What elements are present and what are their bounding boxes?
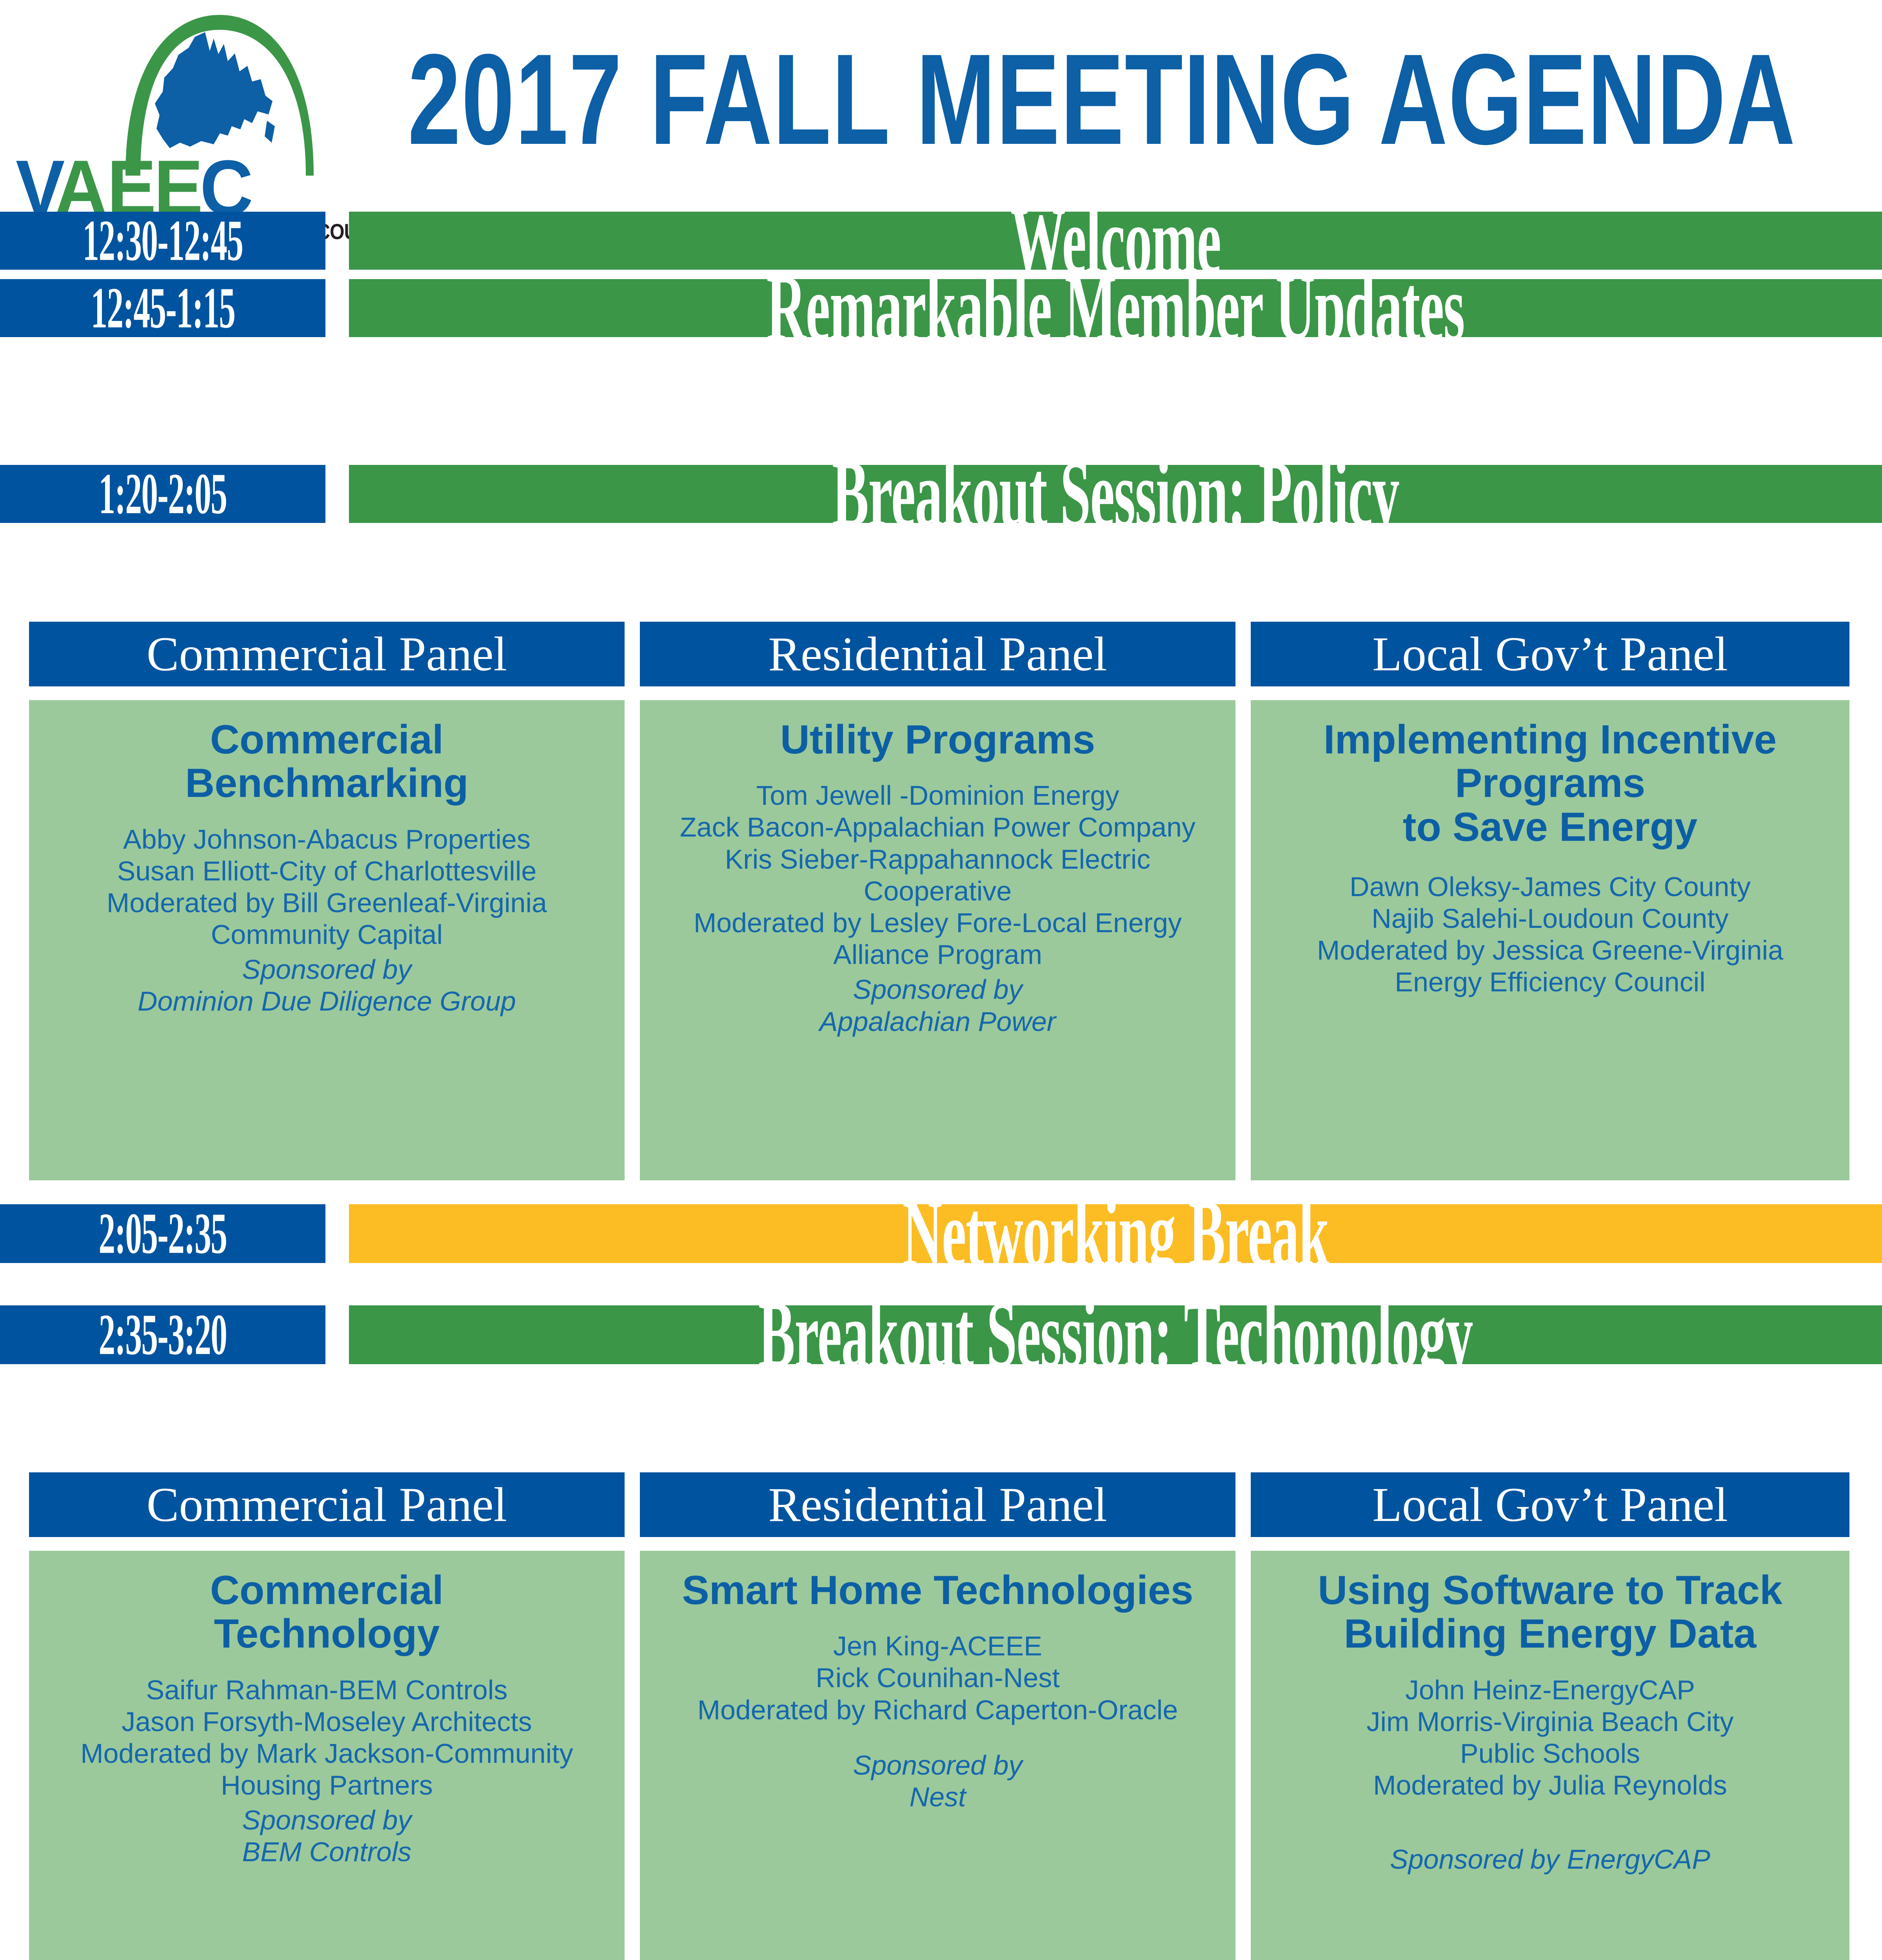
panel-body: Utility Programs Tom Jewell -Dominion En… bbox=[640, 700, 1235, 1180]
panel-speakers: Tom Jewell -Dominion Energy Zack Bacon-A… bbox=[652, 780, 1224, 971]
agenda-row-member-updates: 12:45-1:15 Remarkable Member Updates bbox=[0, 279, 1882, 337]
time-label: 12:30-12:45 bbox=[83, 212, 243, 270]
panel-residential: Residential Panel Utility Programs Tom J… bbox=[640, 622, 1235, 1180]
panel-speakers: Dawn Oleksy-James City County Najib Sale… bbox=[1263, 871, 1838, 998]
panel-header: Residential Panel bbox=[640, 622, 1235, 686]
panel-topic: Commercial Benchmarking bbox=[41, 718, 613, 806]
panel-header: Residential Panel bbox=[640, 1472, 1235, 1537]
panel-local-gov: Local Gov’t Panel Using Software to Trac… bbox=[1251, 1472, 1849, 1960]
panel-sponsor: Sponsored by Appalachian Power bbox=[652, 974, 1224, 1037]
panel-body: Using Software to Track Building Energy … bbox=[1251, 1551, 1849, 1960]
session-title-cell: Networking Break bbox=[349, 1204, 1882, 1263]
vaeec-logo: V A E E C VIRGINIA ENERGY EFFICIENCY COU… bbox=[16, 7, 408, 203]
time-label: 1:20-2:05 bbox=[99, 465, 227, 523]
time-cell: 12:45-1:15 bbox=[0, 279, 325, 337]
agenda-row-networking-break-1: 2:05-2:35 Networking Break bbox=[0, 1204, 1882, 1263]
time-cell: 1:20-2:05 bbox=[0, 465, 325, 523]
panel-speakers: John Heinz-EnergyCAP Jim Morris-Virginia… bbox=[1263, 1674, 1838, 1802]
panel-body: Implementing Incentive Programs to Save … bbox=[1251, 700, 1849, 1180]
session-title: Remarkable Member Updates bbox=[767, 260, 1464, 356]
panel-sponsor: Sponsored by Dominion Due Diligence Grou… bbox=[41, 954, 613, 1017]
panel-topic: Implementing Incentive Programs to Save … bbox=[1263, 718, 1838, 849]
panel-header: Commercial Panel bbox=[29, 622, 625, 686]
page-title: 2017 FALL MEETING AGENDA bbox=[408, 35, 1728, 164]
panel-topic: Commercial Technology bbox=[41, 1569, 613, 1656]
panel-body: Smart Home Technologies Jen King-ACEEE R… bbox=[640, 1551, 1235, 1960]
panel-commercial: Commercial Panel Commercial Benchmarking… bbox=[29, 622, 625, 1180]
agenda-row-breakout-policy-bar: 1:20-2:05 Breakout Session: Policy bbox=[0, 465, 1882, 523]
time-label: 2:35-3:20 bbox=[99, 1306, 227, 1364]
panel-commercial: Commercial Panel Commercial Technology S… bbox=[29, 1472, 625, 1960]
panel-speakers: Saifur Rahman-BEM Controls Jason Forsyth… bbox=[41, 1674, 613, 1802]
time-cell: 2:35-3:20 bbox=[0, 1305, 325, 1364]
panel-speakers: Jen King-ACEEE Rick Counihan-Nest Modera… bbox=[652, 1630, 1224, 1726]
panel-body: Commercial Technology Saifur Rahman-BEM … bbox=[29, 1551, 625, 1960]
session-title-cell: Breakout Session: Policy bbox=[349, 465, 1882, 523]
session-title: Breakout Session: Techonology bbox=[758, 1287, 1473, 1382]
agenda-row-breakout-technology: 2:35-3:20 Breakout Session: Techonology bbox=[0, 1305, 1882, 1364]
panel-header: Local Gov’t Panel bbox=[1251, 1472, 1849, 1537]
panel-topic: Utility Programs bbox=[652, 718, 1224, 762]
page-header: V A E E C VIRGINIA ENERGY EFFICIENCY COU… bbox=[0, 0, 1882, 212]
panel-header: Commercial Panel bbox=[29, 1472, 625, 1537]
panel-sponsor: Sponsored by Nest bbox=[652, 1749, 1224, 1813]
panel-speakers: Abby Johnson-Abacus Properties Susan Ell… bbox=[41, 824, 613, 951]
time-label: 12:45-1:15 bbox=[91, 279, 235, 338]
time-label: 2:05-2:35 bbox=[99, 1205, 227, 1263]
session-title: Networking Break bbox=[903, 1186, 1329, 1281]
session-title-cell: Breakout Session: Techonology bbox=[349, 1305, 1882, 1364]
session-title-cell: Remarkable Member Updates bbox=[349, 279, 1882, 337]
panel-residential: Residential Panel Smart Home Technologie… bbox=[640, 1472, 1235, 1960]
session-title: Breakout Session: Policy bbox=[832, 446, 1399, 541]
time-cell: 12:30-12:45 bbox=[0, 212, 325, 270]
panel-body: Commercial Benchmarking Abby Johnson-Aba… bbox=[29, 700, 625, 1180]
panel-topic: Using Software to Track Building Energy … bbox=[1263, 1569, 1838, 1656]
virginia-state-shape-icon bbox=[151, 31, 280, 176]
panel-topic: Smart Home Technologies bbox=[652, 1569, 1224, 1612]
panel-sponsor: Sponsored by EnergyCAP bbox=[1263, 1844, 1838, 1875]
panel-local-gov: Local Gov’t Panel Implementing Incentive… bbox=[1251, 622, 1849, 1180]
time-cell: 2:05-2:35 bbox=[0, 1204, 325, 1263]
panel-header: Local Gov’t Panel bbox=[1251, 622, 1849, 686]
panel-sponsor: Sponsored by BEM Controls bbox=[41, 1804, 613, 1868]
